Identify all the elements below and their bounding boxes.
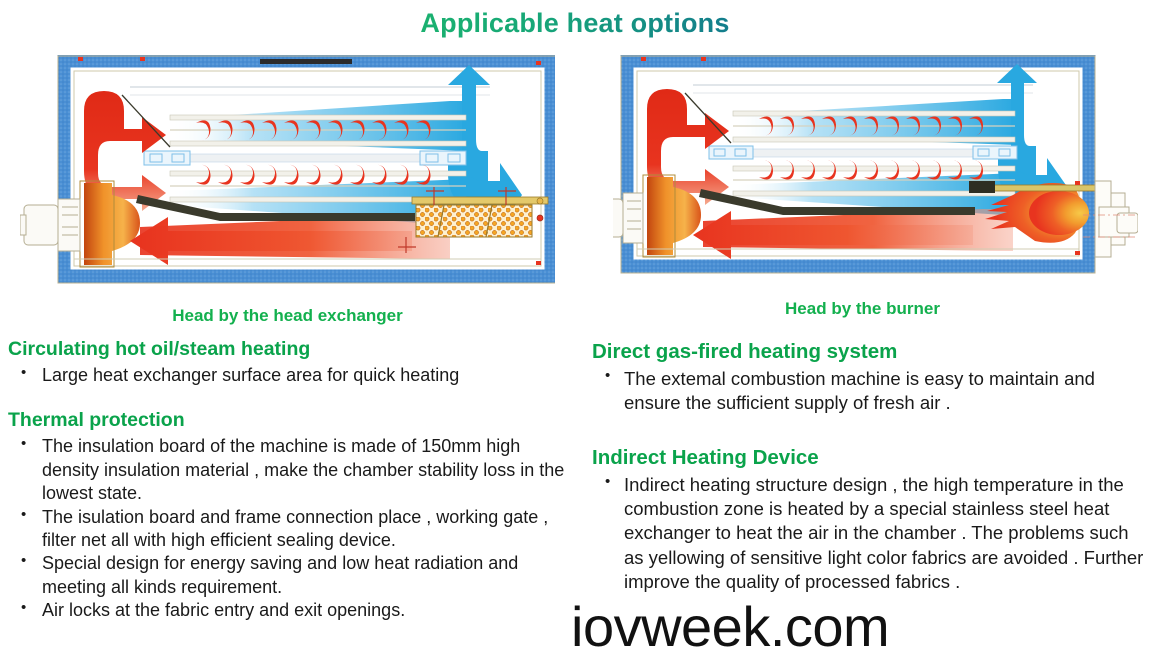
section-heading-indirect-heating: Indirect Heating Device — [592, 446, 1144, 470]
list-item: Air locks at the fabric entry and exit o… — [8, 599, 566, 622]
left-text-column: Circulating hot oil/steam heating Large … — [8, 338, 566, 623]
bullet-list-direct-gas-fired: The extemal combustion machine is easy t… — [592, 367, 1144, 415]
bullet-list-indirect-heating: Indirect heating structure design , the … — [592, 473, 1144, 594]
watermark: iovweek.com — [571, 594, 889, 659]
bullet-list-circulating-oil: Large heat exchanger surface area for qu… — [8, 364, 566, 387]
section-heading-thermal-protection: Thermal protection — [8, 409, 566, 432]
diagram-burner-dryer — [613, 55, 1138, 280]
diagram-heat-exchanger-dryer — [20, 55, 555, 290]
caption-left-diagram: Head by the head exchanger — [0, 306, 575, 326]
right-panel: Head by the burner Direct gas-fired heat… — [575, 0, 1150, 665]
list-item: The extemal combustion machine is easy t… — [592, 367, 1144, 415]
burner-dryer-svg — [613, 55, 1138, 280]
list-item: The isulation board and frame connection… — [8, 506, 566, 553]
list-item: Special design for energy saving and low… — [8, 552, 566, 599]
list-item: Indirect heating structure design , the … — [592, 473, 1144, 594]
section-heading-direct-gas-fired: Direct gas-fired heating system — [592, 340, 1144, 364]
bullet-list-thermal-protection: The insulation board of the machine is m… — [8, 435, 566, 622]
heat-exchanger-dryer-svg — [20, 55, 555, 290]
section-heading-circulating-oil: Circulating hot oil/steam heating — [8, 338, 566, 361]
list-item: Large heat exchanger surface area for qu… — [8, 364, 566, 387]
list-item: The insulation board of the machine is m… — [8, 435, 566, 505]
left-panel: Head by the head exchanger Circulating h… — [0, 0, 575, 665]
right-text-column: Direct gas-fired heating system The exte… — [592, 340, 1144, 594]
caption-right-diagram: Head by the burner — [575, 299, 1150, 319]
